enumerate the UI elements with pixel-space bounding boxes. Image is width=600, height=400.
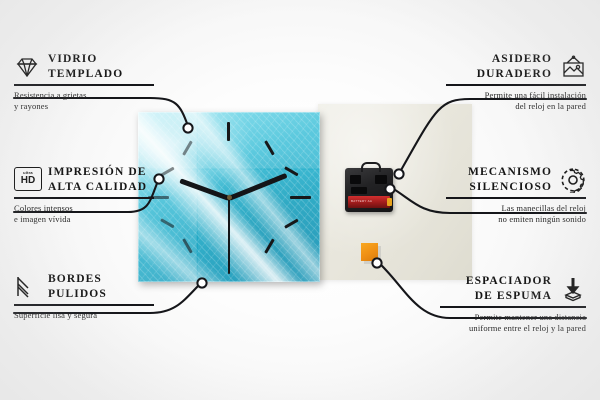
feature-title: IMPRESIÓN DE ALTA CALIDAD [48,165,147,194]
arrow-down-pad-icon [560,276,586,302]
feature-title: ESPACIADOR DE ESPUMA [466,274,552,303]
feature-desc: Las manecillas del reloj no emiten ningú… [446,203,586,226]
wire-dot-bordes [197,278,206,287]
picture-hanger-icon [560,54,586,80]
feature-asidero-duradero: ASIDERO DURADERO Permite una fácil insta… [446,52,586,113]
diamond-icon [14,54,40,80]
divider [14,197,154,199]
wire-dot-espaciador [372,258,381,267]
infographic-canvas: BATTERY AA [0,0,600,400]
feature-title: ASIDERO DURADERO [477,52,552,81]
wire-dot-mecanismo [385,184,394,193]
wire-dot-vidrio [183,123,192,132]
divider [440,306,586,308]
divider [14,304,154,306]
diagonal-lines-icon [14,274,40,300]
divider [446,84,586,86]
wire-dot-asidero [394,169,403,178]
feature-desc: Permite mantener una distancia uniforme … [440,312,586,335]
feature-espaciador-de-espuma: ESPACIADOR DE ESPUMA Permite mantener un… [440,274,586,335]
feature-impresion-alta-calidad: ultra HD IMPRESIÓN DE ALTA CALIDAD Color… [14,165,154,226]
feature-vidrio-templado: VIDRIO TEMPLADO Resistencia a grietas y … [14,52,154,113]
ultra-hd-icon: ultra HD [14,167,40,193]
divider [446,197,586,199]
feature-desc: Resistencia a grietas y rayones [14,90,154,113]
feature-title: MECANISMO SILENCIOSO [468,165,552,194]
divider [14,84,154,86]
feature-desc: Permite una fácil instalación del reloj … [446,90,586,113]
gear-icon [560,167,586,193]
feature-desc: Colores intensos e imagen vívida [14,203,154,226]
feature-title: VIDRIO TEMPLADO [48,52,123,81]
wire-dot-impresion [154,174,163,183]
feature-desc: Superficie lisa y segura [14,310,154,321]
feature-mecanismo-silencioso: MECANISMO SILENCIOSO Las manecillas del … [446,165,586,226]
feature-title: BORDES PULIDOS [48,272,107,301]
feature-bordes-pulidos: BORDES PULIDOS Superficie lisa y segura [14,272,154,321]
